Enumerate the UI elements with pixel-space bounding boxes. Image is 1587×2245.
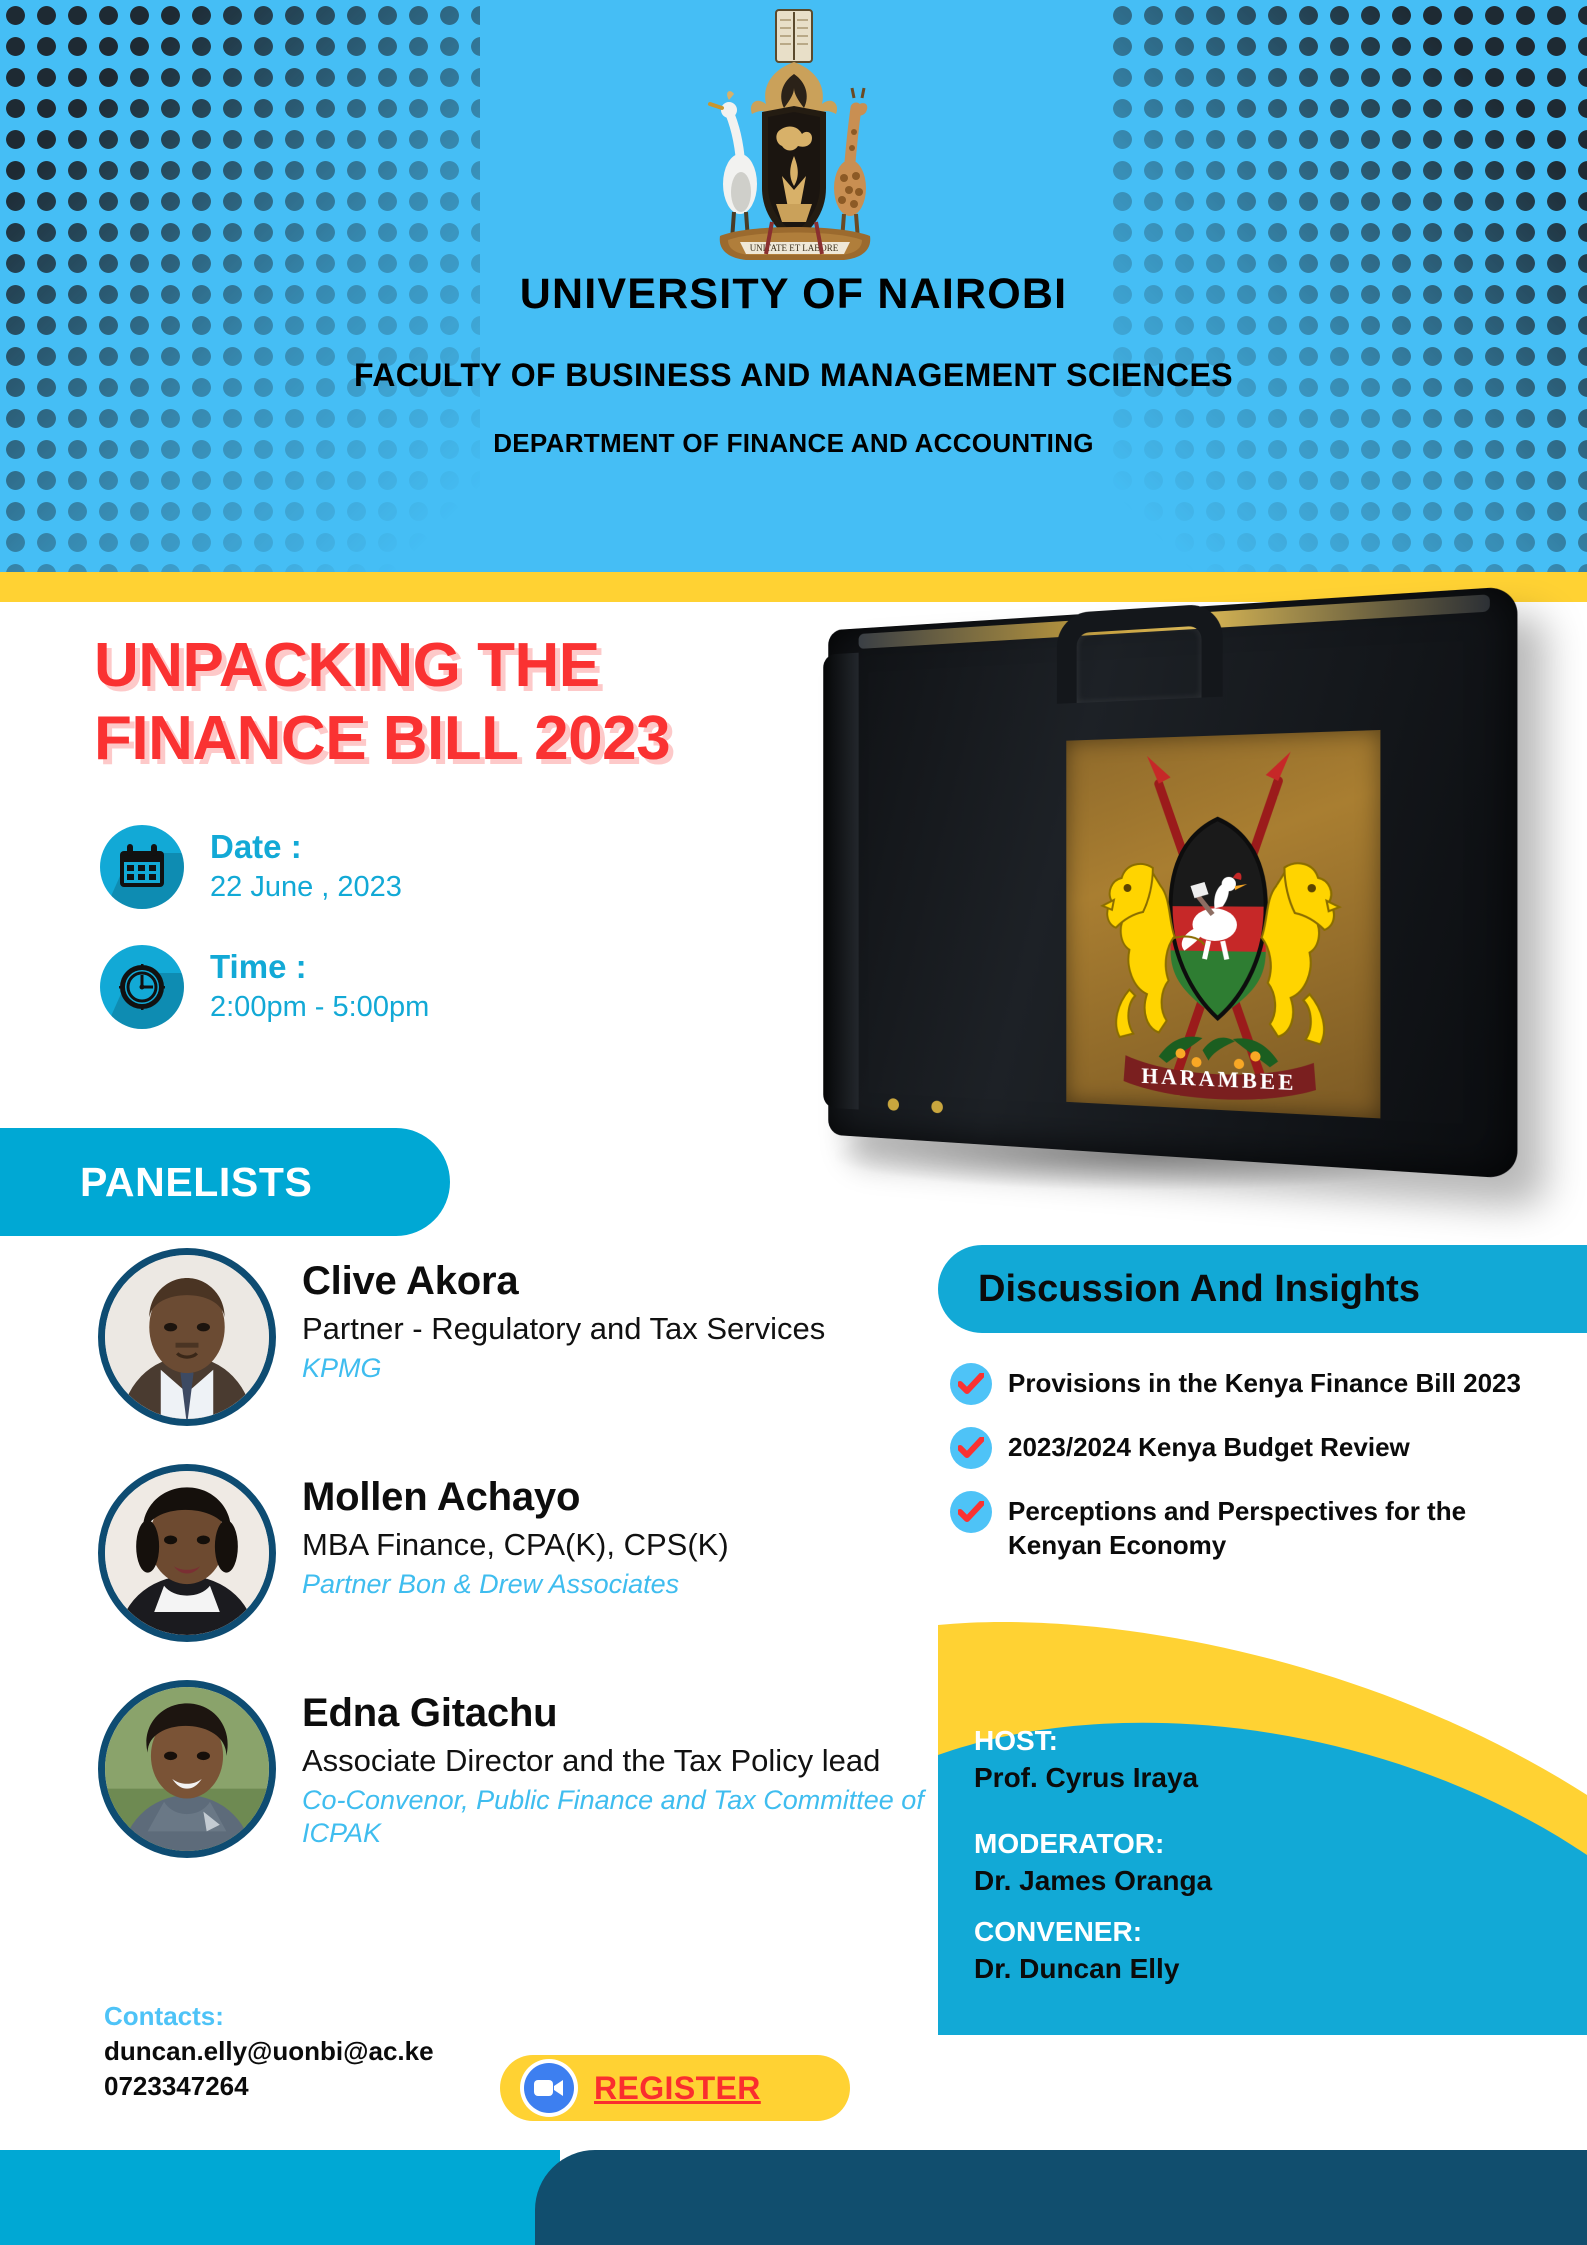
poster-footer <box>0 2150 1587 2245</box>
contact-email[interactable]: duncan.elly@uonbi@ac.ke <box>104 2034 434 2069</box>
svg-text:UNITATE ET LABORE: UNITATE ET LABORE <box>749 243 838 253</box>
discussion-heading: Discussion And Insights <box>938 1245 1587 1333</box>
panelist-role: Partner - Regulatory and Tax Services <box>302 1310 928 1347</box>
briefcase-handle <box>1057 603 1223 708</box>
avatar <box>98 1680 276 1858</box>
event-time-row: Time : 2:00pm - 5:00pm <box>100 945 429 1029</box>
discussion-topic: 2023/2024 Kenya Budget Review <box>1008 1427 1410 1465</box>
briefcase-stud <box>888 1098 899 1111</box>
contacts-block: Contacts: duncan.elly@uonbi@ac.ke 072334… <box>104 2000 434 2104</box>
department-name: DEPARTMENT OF FINANCE AND ACCOUNTING <box>0 428 1587 459</box>
convener-label: CONVENER: <box>974 1914 1212 1949</box>
poster-title-line-2: FINANCE BILL 2023 <box>94 703 814 776</box>
date-label: Date : <box>210 829 402 865</box>
discussion-topic: Provisions in the Kenya Finance Bill 202… <box>1008 1363 1521 1401</box>
check-circle-icon <box>950 1427 992 1469</box>
briefcase-plaque: HARAMBEE <box>1066 730 1380 1118</box>
panelist-name: Clive Akora <box>302 1258 928 1304</box>
clock-icon <box>100 945 184 1029</box>
university-coat-of-arms-icon: UNITATE ET LABORE <box>694 8 894 263</box>
roles-text: HOST: Prof. Cyrus Iraya MODERATOR: Dr. J… <box>974 1723 1212 1987</box>
event-roles-block: HOST: Prof. Cyrus Iraya MODERATOR: Dr. J… <box>938 1595 1587 2035</box>
discussion-topic: Perceptions and Perspectives for the Ken… <box>1008 1491 1560 1563</box>
date-value: 22 June , 2023 <box>210 869 402 905</box>
panelist-item: Clive Akora Partner - Regulatory and Tax… <box>98 1248 928 1438</box>
convener-name: Dr. Duncan Elly <box>974 1951 1212 1987</box>
panelist-org: KPMG <box>302 1352 928 1385</box>
university-name: UNIVERSITY OF NAIROBI <box>0 270 1587 319</box>
event-meta: Date : 22 June , 2023 Time : 2:00pm - 5: <box>100 825 429 1065</box>
poster-title: UNPACKING THE FINANCE BILL 2023 <box>94 630 814 775</box>
check-circle-icon <box>950 1363 992 1405</box>
avatar <box>98 1464 276 1642</box>
panelist-role: MBA Finance, CPA(K), CPS(K) <box>302 1526 928 1563</box>
avatar <box>98 1248 276 1426</box>
poster-header: UNITATE ET LABORE UNIVERSITY OF NAIROBI … <box>0 0 1587 572</box>
panelist-name: Edna Gitachu <box>302 1690 928 1736</box>
host-label: HOST: <box>974 1723 1212 1758</box>
list-item: Perceptions and Perspectives for the Ken… <box>950 1491 1560 1563</box>
panelist-item: Edna Gitachu Associate Director and the … <box>98 1680 928 1870</box>
kenya-coat-of-arms-icon: HARAMBEE <box>1066 730 1380 1118</box>
check-circle-icon <box>950 1491 992 1533</box>
register-label: REGISTER <box>594 2070 761 2107</box>
time-label: Time : <box>210 949 429 985</box>
footer-navy-band <box>535 2150 1587 2245</box>
panelist-org: Co-Convenor, Public Finance and Tax Comm… <box>302 1784 928 1850</box>
panelists-heading: PANELISTS <box>0 1128 450 1236</box>
poster-title-line-1: UNPACKING THE <box>94 630 814 703</box>
kenya-budget-briefcase-image: HARAMBEE <box>765 520 1535 1220</box>
footer-cyan-band <box>0 2150 560 2245</box>
moderator-label: MODERATOR: <box>974 1826 1212 1861</box>
contact-phone[interactable]: 0723347264 <box>104 2069 434 2104</box>
panelist-role: Associate Director and the Tax Policy le… <box>302 1742 928 1779</box>
calendar-icon <box>100 825 184 909</box>
panelists-list: Clive Akora Partner - Regulatory and Tax… <box>98 1248 928 1896</box>
time-value: 2:00pm - 5:00pm <box>210 989 429 1025</box>
briefcase-spine <box>823 653 858 1110</box>
list-item: 2023/2024 Kenya Budget Review <box>950 1427 1560 1469</box>
discussion-heading-label: Discussion And Insights <box>978 1268 1420 1311</box>
faculty-name: FACULTY OF BUSINESS AND MANAGEMENT SCIEN… <box>0 357 1587 394</box>
zoom-video-icon <box>520 2059 578 2117</box>
panelist-name: Mollen Achayo <box>302 1474 928 1520</box>
event-date-row: Date : 22 June , 2023 <box>100 825 429 909</box>
panelist-org: Partner Bon & Drew Associates <box>302 1568 928 1601</box>
discussion-topics-list: Provisions in the Kenya Finance Bill 202… <box>950 1363 1560 1585</box>
moderator-name: Dr. James Oranga <box>974 1863 1212 1899</box>
briefcase-stud <box>931 1100 942 1113</box>
header-text-block: UNIVERSITY OF NAIROBI FACULTY OF BUSINES… <box>0 270 1587 459</box>
register-button[interactable]: REGISTER <box>500 2055 850 2121</box>
panelist-item: Mollen Achayo MBA Finance, CPA(K), CPS(K… <box>98 1464 928 1654</box>
briefcase-body: HARAMBEE <box>828 586 1517 1179</box>
host-name: Prof. Cyrus Iraya <box>974 1760 1212 1796</box>
contacts-title: Contacts: <box>104 2000 434 2034</box>
list-item: Provisions in the Kenya Finance Bill 202… <box>950 1363 1560 1405</box>
panelists-heading-label: PANELISTS <box>80 1159 312 1206</box>
